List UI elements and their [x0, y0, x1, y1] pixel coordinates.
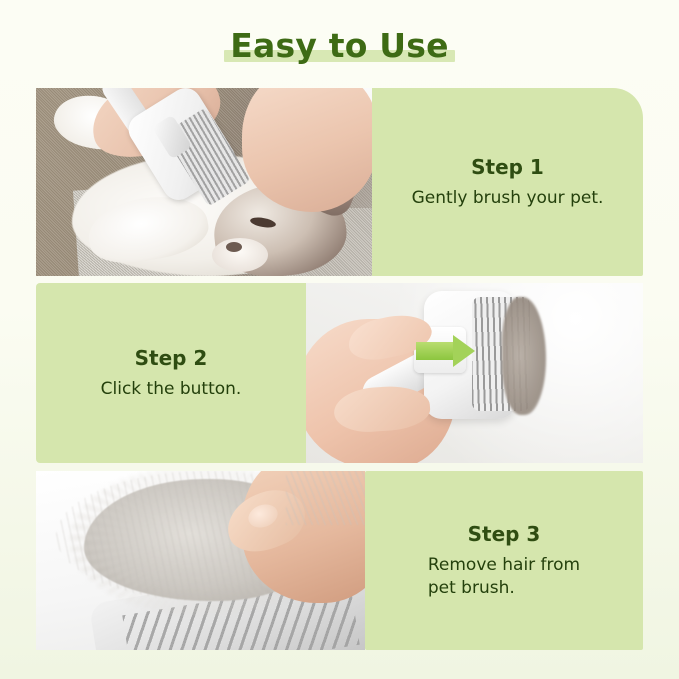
step-3-heading: Step 3 [428, 522, 580, 546]
step-row-1: Step 1 Gently brush your pet. [36, 88, 643, 276]
step-3-text-block: Step 3 Remove hair from pet brush. [428, 522, 580, 600]
step-1-heading: Step 1 [471, 155, 544, 179]
press-direction-arrow-icon [416, 335, 478, 367]
step-1-panel: Step 1 Gently brush your pet. [372, 88, 643, 276]
arrow-shaft [416, 342, 456, 360]
step-1-photo [36, 88, 372, 276]
page-title-text: Easy to Use [230, 26, 448, 65]
fur-on-bristles [502, 297, 546, 415]
step-3-photo [36, 471, 365, 650]
step-row-3: Step 3 Remove hair from pet brush. [36, 471, 643, 650]
step-1-body: Gently brush your pet. [412, 187, 604, 210]
fur-wisps-top [286, 471, 365, 525]
step-3-body: Remove hair from pet brush. [428, 554, 580, 600]
step-2-panel: Step 2 Click the button. [36, 283, 306, 463]
step-row-2: Step 2 Click the button. [36, 283, 643, 463]
infographic-page: Easy to Use Step 1 Gently brus [0, 0, 679, 679]
step-2-body: Click the button. [101, 378, 242, 401]
step-2-photo [306, 283, 643, 463]
title-inner: Easy to Use [224, 26, 454, 66]
page-title: Easy to Use [0, 26, 679, 78]
arrow-head [453, 335, 475, 367]
step-2-heading: Step 2 [135, 346, 208, 370]
cat-nose [226, 242, 242, 252]
step-3-panel: Step 3 Remove hair from pet brush. [365, 471, 643, 650]
